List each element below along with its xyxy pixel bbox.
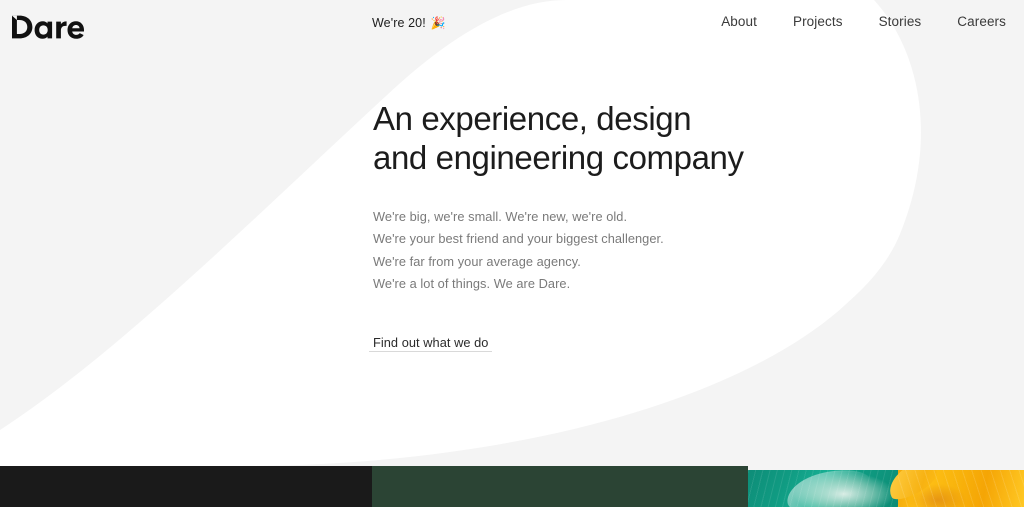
hero-copy-line-4: We're a lot of things. We are Dare. bbox=[373, 273, 933, 296]
teal-fabric-artwork bbox=[748, 470, 908, 507]
dare-logo-icon bbox=[12, 14, 84, 40]
find-out-what-we-do-link[interactable]: Find out what we do bbox=[369, 334, 492, 353]
dare-logo[interactable] bbox=[12, 11, 84, 43]
hero-copy-line-2: We're your best friend and your biggest … bbox=[373, 228, 933, 251]
nav-item-about[interactable]: About bbox=[721, 14, 757, 29]
site-header: We're 20! 🎉 About Projects Stories Caree… bbox=[0, 0, 1024, 56]
main-navigation: About Projects Stories Careers bbox=[721, 14, 1006, 29]
hero-copy-line-3: We're far from your average agency. bbox=[373, 251, 933, 274]
hero-copy-line-1: We're big, we're small. We're new, we're… bbox=[373, 206, 933, 229]
anniversary-badge-label: We're 20! bbox=[372, 16, 426, 30]
hero-section: An experience, design and engineering co… bbox=[373, 100, 933, 353]
nav-item-projects[interactable]: Projects bbox=[793, 14, 843, 29]
yellow-petals-artwork bbox=[898, 470, 1024, 507]
hero-copy: We're big, we're small. We're new, we're… bbox=[373, 206, 933, 296]
panel-green[interactable] bbox=[372, 466, 748, 507]
nav-item-stories[interactable]: Stories bbox=[879, 14, 922, 29]
hero-title: An experience, design and engineering co… bbox=[373, 100, 933, 178]
page-stage: We're 20! 🎉 About Projects Stories Caree… bbox=[0, 0, 1024, 507]
panel-dark[interactable] bbox=[0, 466, 372, 507]
panel-image[interactable] bbox=[748, 470, 1024, 507]
bottom-panel-strip bbox=[0, 466, 1024, 507]
hero-cta-wrapper: Find out what we do bbox=[373, 334, 933, 353]
party-popper-icon: 🎉 bbox=[431, 17, 446, 29]
anniversary-badge[interactable]: We're 20! 🎉 bbox=[372, 16, 446, 30]
nav-item-careers[interactable]: Careers bbox=[957, 14, 1006, 29]
